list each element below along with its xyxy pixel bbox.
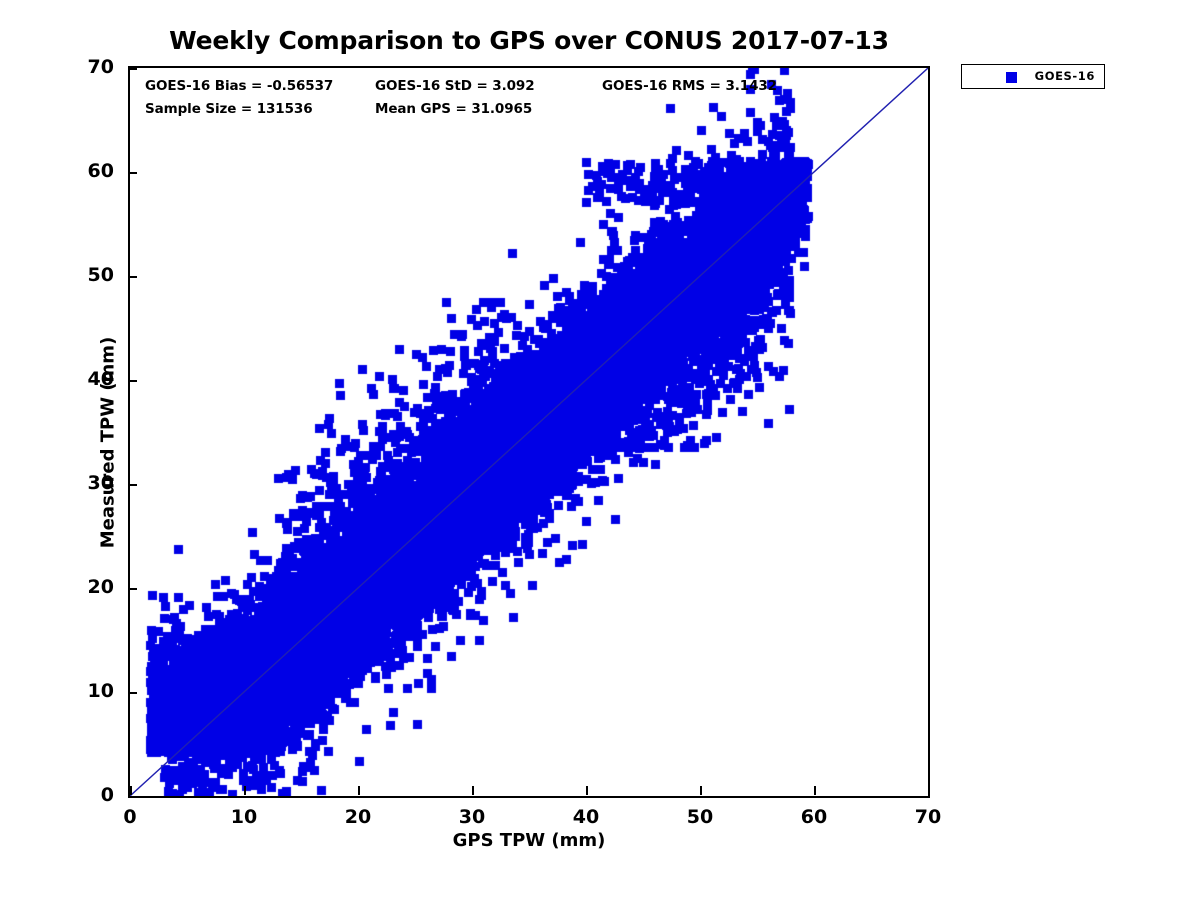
y-axis-title: Measured TPW (mm) — [98, 77, 119, 809]
x-tick-mark — [814, 786, 816, 795]
x-axis-ticks — [128, 786, 930, 798]
plot-area — [128, 66, 930, 798]
x-tick-label: 60 — [784, 806, 844, 828]
y-tick-mark — [128, 276, 137, 278]
x-tick-mark — [586, 786, 588, 795]
y-tick-mark — [128, 796, 137, 798]
x-tick-label: 50 — [670, 806, 730, 828]
stat-bias: GOES-16 Bias = -0.56537 — [145, 78, 333, 94]
y-tick-mark — [128, 692, 137, 694]
chart-figure: Weekly Comparison to GPS over CONUS 2017… — [0, 0, 1200, 900]
x-tick-mark — [358, 786, 360, 795]
x-tick-label: 30 — [442, 806, 502, 828]
page-title: Weekly Comparison to GPS over CONUS 2017… — [128, 26, 930, 55]
x-tick-label: 10 — [214, 806, 274, 828]
y-tick-mark — [128, 484, 137, 486]
stat-mean-gps: Mean GPS = 31.0965 — [375, 101, 532, 117]
y-tick-label: 70 — [52, 56, 114, 78]
stat-std: GOES-16 StD = 3.092 — [375, 78, 535, 94]
x-axis-title: GPS TPW (mm) — [128, 830, 930, 851]
scatter-points-layer — [130, 68, 928, 796]
legend: GOES-16 — [961, 64, 1105, 89]
y-tick-mark — [128, 68, 137, 70]
y-tick-mark — [128, 172, 137, 174]
stat-rms: GOES-16 RMS = 3.1432 — [602, 78, 777, 94]
y-tick-mark — [128, 588, 137, 590]
y-axis-ticks — [128, 66, 140, 798]
x-tick-label: 0 — [100, 806, 160, 828]
x-tick-label: 20 — [328, 806, 388, 828]
x-tick-label: 40 — [556, 806, 616, 828]
x-tick-mark — [700, 786, 702, 795]
stat-sample-size: Sample Size = 131536 — [145, 101, 312, 117]
y-tick-mark — [128, 380, 137, 382]
x-tick-mark — [472, 786, 474, 795]
x-tick-mark — [244, 786, 246, 795]
x-tick-mark — [928, 786, 930, 795]
legend-marker-icon — [1006, 72, 1017, 83]
x-tick-label: 70 — [898, 806, 958, 828]
legend-label-goes16: GOES-16 — [1035, 69, 1095, 83]
